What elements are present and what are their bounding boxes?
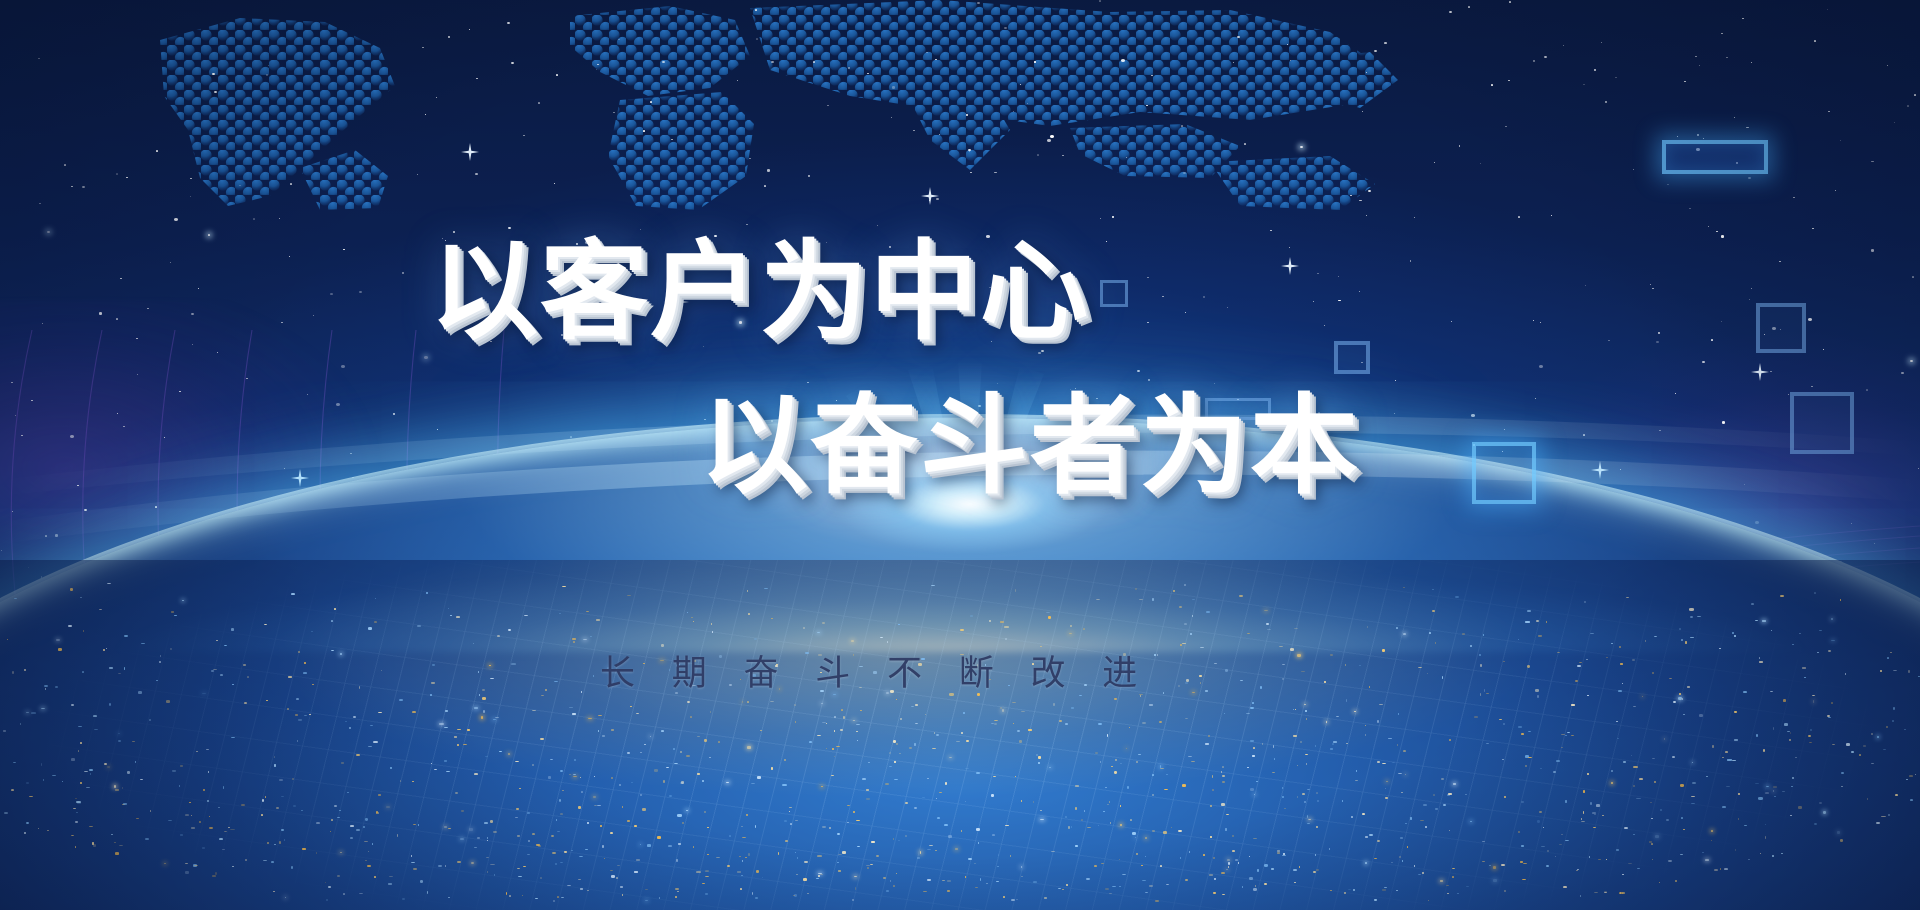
tagline: 长 期 奋 斗 不 断 改 进 [600,645,1151,696]
deco-rect-square-far [1790,392,1854,454]
banner-canvas: 以客户为中心 以奋斗者为本 长 期 奋 斗 不 断 改 进 [0,0,1920,910]
dotted-worldmap [150,0,1410,210]
deco-rect-square-tall [1472,442,1536,504]
deco-rect-bar-top-right [1662,140,1768,174]
deco-rect-square-right [1756,303,1806,353]
deco-rect-bar-bottom [1205,398,1271,420]
deco-rect-square-mid [1334,341,1370,374]
deco-rect-square-small [1100,280,1128,307]
